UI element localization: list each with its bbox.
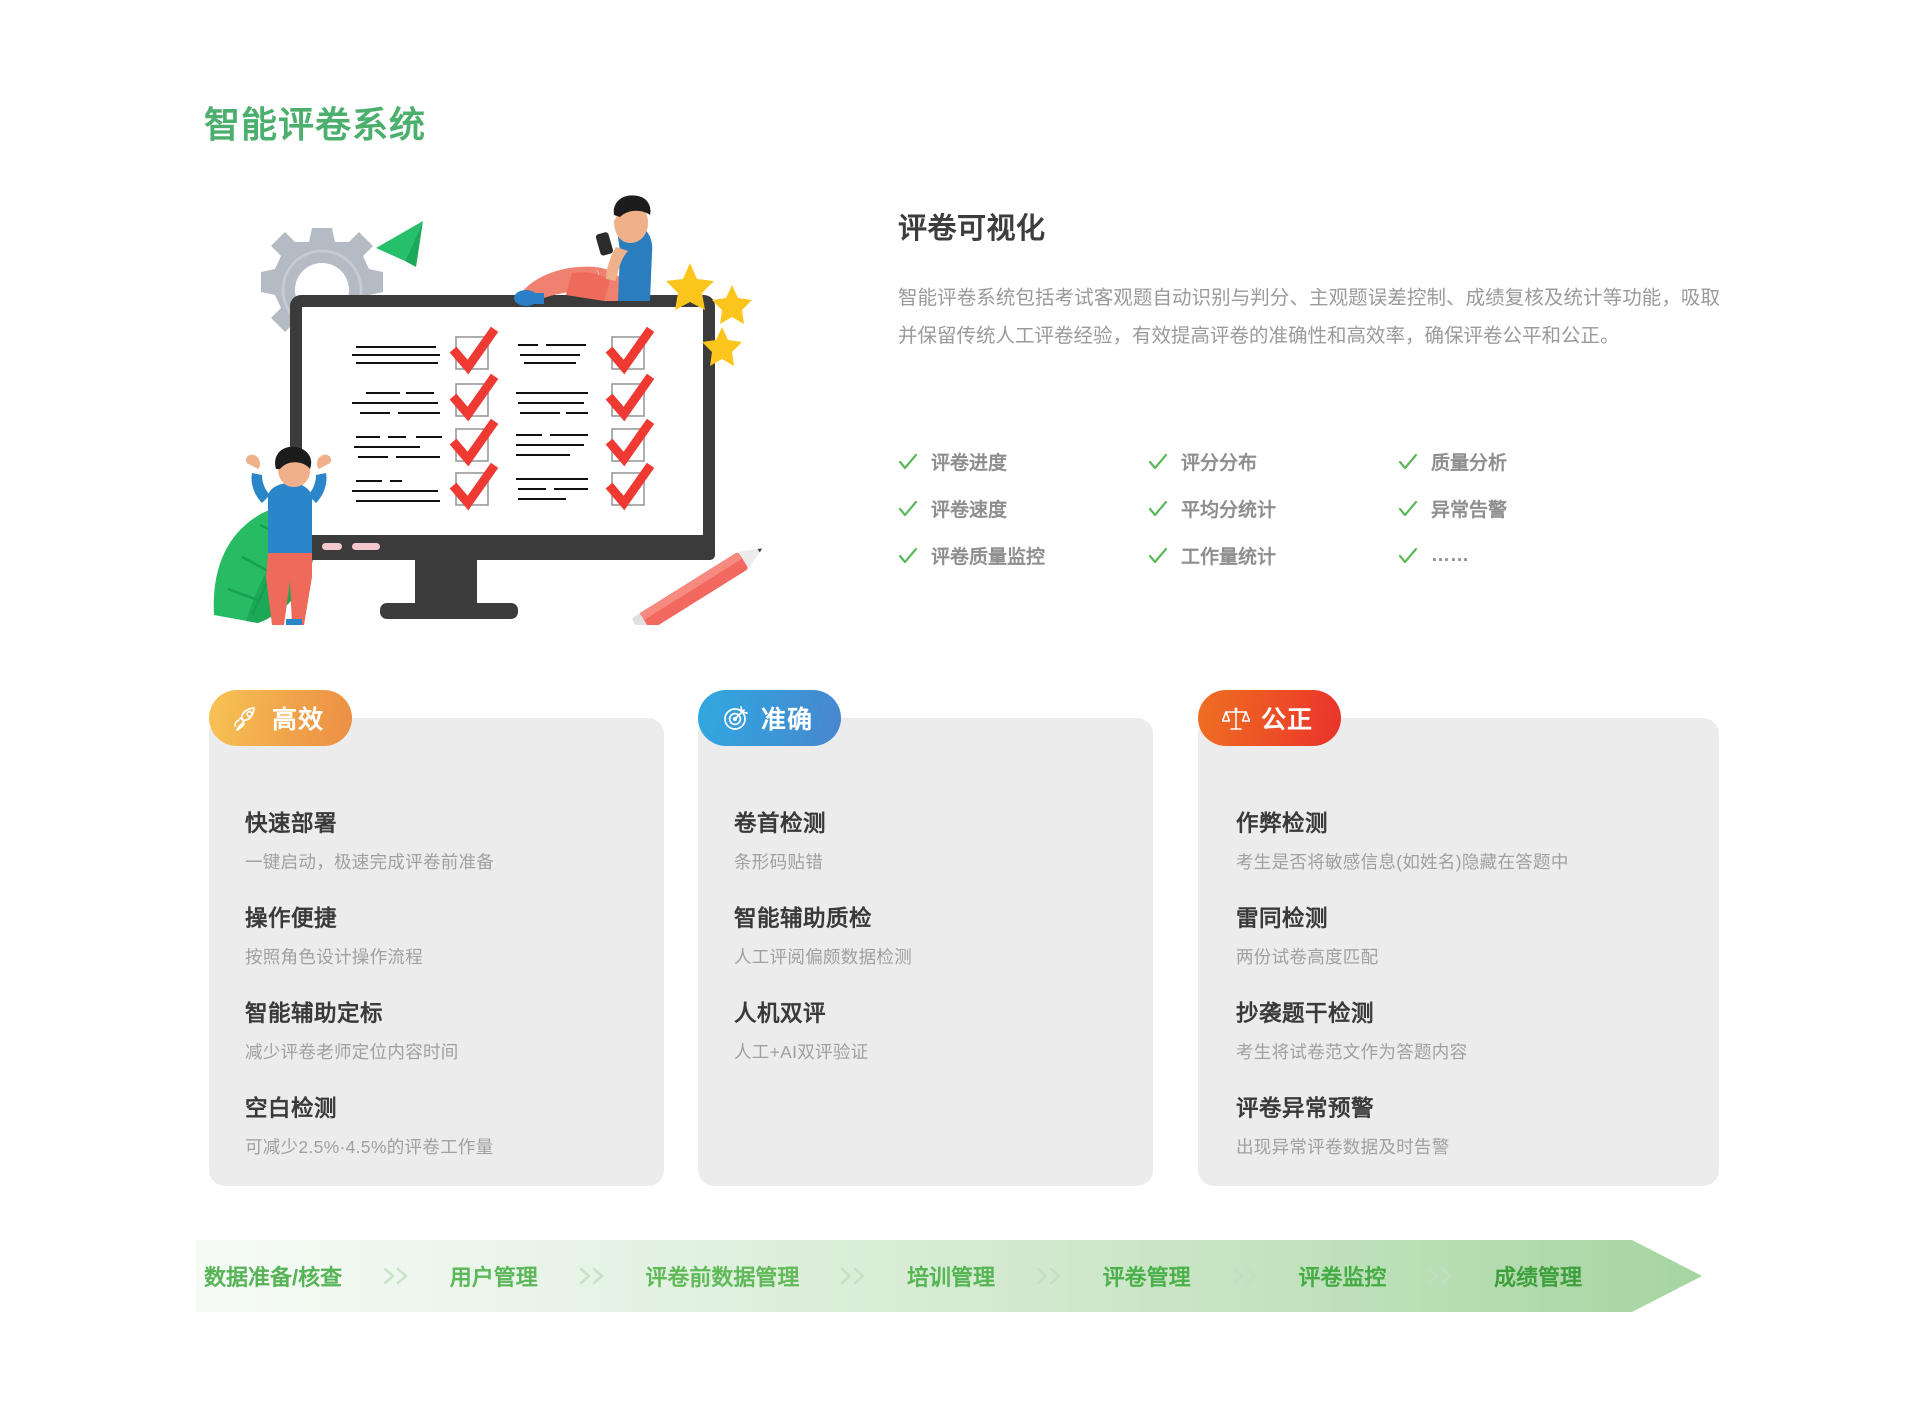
card-feature: 雷同检测 两份试卷高度匹配 <box>1236 901 1691 969</box>
chevron-double-right-icon <box>342 1266 450 1286</box>
check-icon <box>1398 499 1418 519</box>
process-flow-steps: 数据准备/核查 用户管理 评卷前数据管理 培训管理 评卷管理 评卷监控 <box>196 1240 1702 1312</box>
feature-item: 评卷质量监控 <box>898 542 1148 569</box>
card-feature: 空白检测 可减少2.5%·4.5%的评卷工作量 <box>245 1091 636 1159</box>
feature-label: 评卷进度 <box>931 448 1007 475</box>
chevron-double-right-icon <box>995 1266 1103 1286</box>
badge-accuracy[interactable]: 准确 <box>698 690 841 746</box>
card-efficiency: 快速部署 一键启动，极速完成评卷前准备 操作便捷 按照角色设计操作流程 智能辅助… <box>209 718 664 1186</box>
badge-fairness[interactable]: 公正 <box>1198 690 1341 746</box>
check-icon <box>898 499 918 519</box>
flow-step[interactable]: 用户管理 <box>450 1260 538 1292</box>
flow-step[interactable]: 评卷管理 <box>1103 1260 1191 1292</box>
card-feature: 智能辅助质检 人工评阅偏颇数据检测 <box>734 901 1125 969</box>
exam-grading-illustration <box>200 185 780 625</box>
feature-title: 作弊检测 <box>1236 806 1691 838</box>
chevron-double-right-icon <box>1191 1266 1299 1286</box>
description-block: 评卷可视化 智能评卷系统包括考试客观题自动识别与判分、主观题误差控制、成绩复核及… <box>898 205 1728 355</box>
flow-step[interactable]: 数据准备/核查 <box>204 1260 342 1292</box>
feature-subtitle: 一键启动，极速完成评卷前准备 <box>245 849 636 874</box>
chevron-double-right-icon <box>538 1266 646 1286</box>
check-icon <box>1148 546 1168 566</box>
check-icon <box>898 452 918 472</box>
badge-label: 准确 <box>761 700 813 736</box>
feature-label: 评卷速度 <box>931 495 1007 522</box>
feature-title: 雷同检测 <box>1236 901 1691 933</box>
feature-check-list: 评卷进度 评分分布 质量分析 评卷速度 平均分统计 异常告警 评卷质量监控 工 <box>898 438 1598 579</box>
badge-efficiency[interactable]: 高效 <box>209 690 352 746</box>
badge-label: 公正 <box>1261 700 1313 736</box>
flow-step[interactable]: 评卷监控 <box>1298 1260 1386 1292</box>
card-feature: 卷首检测 条形码贴错 <box>734 806 1125 874</box>
feature-subtitle: 人工评阅偏颇数据检测 <box>734 944 1125 969</box>
feature-item: 工作量统计 <box>1148 542 1398 569</box>
card-feature: 评卷异常预警 出现异常评卷数据及时告警 <box>1236 1091 1691 1159</box>
card-feature: 人机双评 人工+AI双评验证 <box>734 996 1125 1064</box>
monitor <box>290 295 715 619</box>
feature-label: 质量分析 <box>1431 448 1507 475</box>
feature-subtitle: 条形码贴错 <box>734 849 1125 874</box>
feature-title: 操作便捷 <box>245 901 636 933</box>
target-icon <box>722 704 750 732</box>
check-icon <box>1148 499 1168 519</box>
chevron-double-right-icon <box>1386 1266 1494 1286</box>
flow-step[interactable]: 培训管理 <box>907 1260 995 1292</box>
description-body: 智能评卷系统包括考试客观题自动识别与判分、主观题误差控制、成绩复核及统计等功能，… <box>898 279 1720 355</box>
feature-title: 智能辅助质检 <box>734 901 1125 933</box>
flow-step[interactable]: 评卷前数据管理 <box>645 1260 799 1292</box>
feature-cards: 快速部署 一键启动，极速完成评卷前准备 操作便捷 按照角色设计操作流程 智能辅助… <box>209 690 1719 1190</box>
feature-title: 快速部署 <box>245 806 636 838</box>
card-body: 作弊检测 考生是否将敏感信息(如姓名)隐藏在答题中 雷同检测 两份试卷高度匹配 … <box>1236 806 1691 1159</box>
check-icon <box>1398 546 1418 566</box>
feature-subtitle: 出现异常评卷数据及时告警 <box>1236 1134 1691 1159</box>
feature-label: 平均分统计 <box>1181 495 1276 522</box>
badge-label: 高效 <box>272 700 324 736</box>
feature-item: …… <box>1398 545 1598 567</box>
feature-title: 智能辅助定标 <box>245 996 636 1028</box>
feature-title: 抄袭题干检测 <box>1236 996 1691 1028</box>
page-root: 智能评卷系统 <box>0 0 1920 1425</box>
card-body: 快速部署 一键启动，极速完成评卷前准备 操作便捷 按照角色设计操作流程 智能辅助… <box>245 806 636 1159</box>
chevron-double-right-icon <box>799 1266 907 1286</box>
card-fairness: 作弊检测 考生是否将敏感信息(如姓名)隐藏在答题中 雷同检测 两份试卷高度匹配 … <box>1198 718 1719 1186</box>
feature-subtitle: 人工+AI双评验证 <box>734 1039 1125 1064</box>
check-icon <box>1398 452 1418 472</box>
feature-title: 空白检测 <box>245 1091 636 1123</box>
page-title: 智能评卷系统 <box>204 96 426 148</box>
card-feature: 操作便捷 按照角色设计操作流程 <box>245 901 636 969</box>
feature-title: 评卷异常预警 <box>1236 1091 1691 1123</box>
feature-label: 工作量统计 <box>1181 542 1276 569</box>
flow-step[interactable]: 成绩管理 <box>1494 1260 1582 1292</box>
paper-plane-icon <box>376 221 423 267</box>
feature-subtitle: 考生将试卷范文作为答题内容 <box>1236 1039 1691 1064</box>
scales-icon <box>1222 704 1250 732</box>
check-icon <box>898 546 918 566</box>
process-flow: 数据准备/核查 用户管理 评卷前数据管理 培训管理 评卷管理 评卷监控 <box>196 1240 1702 1312</box>
feature-item: 异常告警 <box>1398 495 1598 522</box>
check-icon <box>1148 452 1168 472</box>
feature-subtitle: 考生是否将敏感信息(如姓名)隐藏在答题中 <box>1236 849 1691 874</box>
feature-title: 人机双评 <box>734 996 1125 1028</box>
feature-label: …… <box>1431 545 1469 567</box>
person-sitting-with-phone <box>514 195 652 306</box>
feature-item: 质量分析 <box>1398 448 1598 475</box>
feature-item: 评分分布 <box>1148 448 1398 475</box>
feature-title: 卷首检测 <box>734 806 1125 838</box>
card-feature: 抄袭题干检测 考生将试卷范文作为答题内容 <box>1236 996 1691 1064</box>
feature-subtitle: 减少评卷老师定位内容时间 <box>245 1039 636 1064</box>
feature-subtitle: 可减少2.5%·4.5%的评卷工作量 <box>245 1134 636 1159</box>
description-heading: 评卷可视化 <box>898 205 1728 247</box>
feature-item: 评卷进度 <box>898 448 1148 475</box>
feature-label: 评分分布 <box>1181 448 1257 475</box>
card-feature: 智能辅助定标 减少评卷老师定位内容时间 <box>245 996 636 1064</box>
feature-item: 评卷速度 <box>898 495 1148 522</box>
feature-subtitle: 按照角色设计操作流程 <box>245 944 636 969</box>
card-accuracy: 卷首检测 条形码贴错 智能辅助质检 人工评阅偏颇数据检测 人机双评 人工+AI双… <box>698 718 1153 1186</box>
feature-item: 平均分统计 <box>1148 495 1398 522</box>
feature-label: 异常告警 <box>1431 495 1507 522</box>
card-feature: 快速部署 一键启动，极速完成评卷前准备 <box>245 806 636 874</box>
feature-subtitle: 两份试卷高度匹配 <box>1236 944 1691 969</box>
feature-label: 评卷质量监控 <box>931 542 1045 569</box>
card-feature: 作弊检测 考生是否将敏感信息(如姓名)隐藏在答题中 <box>1236 806 1691 874</box>
rocket-icon <box>233 704 261 732</box>
card-body: 卷首检测 条形码贴错 智能辅助质检 人工评阅偏颇数据检测 人机双评 人工+AI双… <box>734 806 1125 1064</box>
